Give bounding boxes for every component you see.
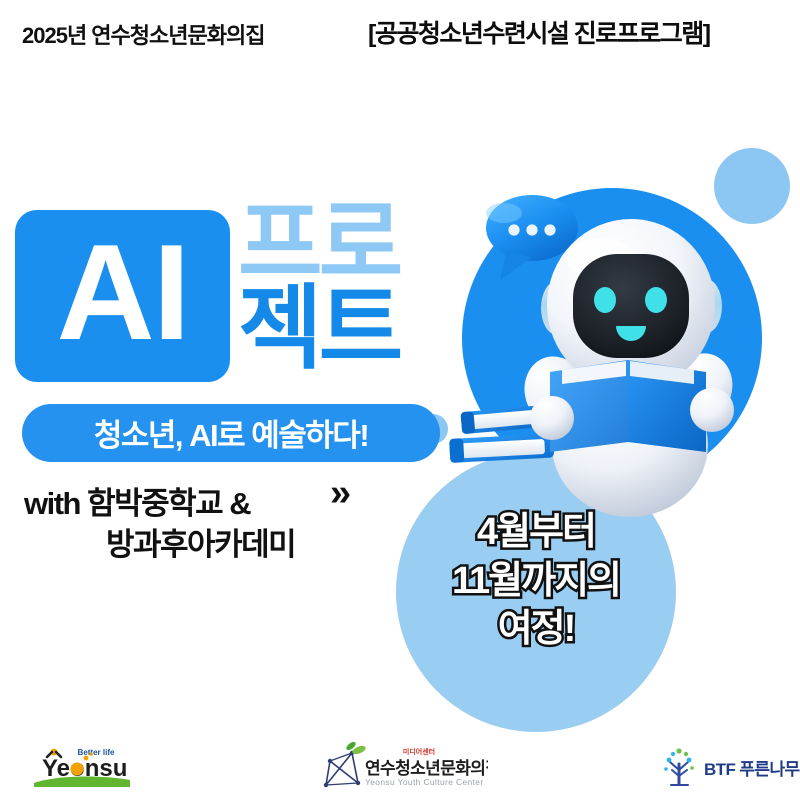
title-korean-line-1: 프로 [238,198,399,290]
logo-yeonsu: Better life Yeonsu [28,738,148,796]
double-chevron-icon: » [330,474,351,512]
title-block: AI 프로 젝트 [0,0,460,800]
footer-logos: Better life Yeonsu [0,738,800,800]
date-badge: 4월부터 11월까지의 여정! [396,508,676,654]
robot-hand-right [690,388,734,432]
date-line-1: 4월부터 [396,508,676,557]
robot-hand-left [530,396,574,440]
title-korean-line-2: 젝트 [238,283,399,375]
ai-robot-illustration [440,160,790,520]
culture-center-mark [324,741,367,787]
robot-eye-right [645,287,667,313]
culture-center-name-en: Yeonsu Youth Culture Center [365,777,484,787]
robot-eye-left [594,287,616,313]
btf-wordmark: BTF 푸른나무재단 [704,760,800,779]
subtitle-text: 청소년, AI로 예술하다! [94,410,368,455]
partners-line-2: 방과후아카데미 [106,519,295,564]
partners-line-1: with 함박중학교 & [24,478,250,523]
open-book [550,360,706,452]
btf-tree-icon [664,748,694,785]
culture-center-badge: 미디어센터 [403,747,435,756]
culture-center-name: 연수청소년문화의집 [365,758,488,778]
logo-yeonsu-youth-culture-center: 미디어센터 연수청소년문화의집 Yeonsu Youth Culture Cen… [318,738,488,796]
ai-logo-box: AI [15,210,230,382]
subtitle-pill: 청소년, AI로 예술하다! [22,404,440,462]
poster-canvas: 2025년 연수청소년문화의집 [공공청소년수련시설 진로프로그램] [0,0,800,800]
ai-label: AI [57,224,189,360]
date-line-3: 여정! [396,605,676,654]
date-line-2: 11월까지의 [396,557,676,606]
robot-face-screen [573,254,689,358]
logo-btf-foundation: BTF 푸른나무재단 [660,738,800,796]
